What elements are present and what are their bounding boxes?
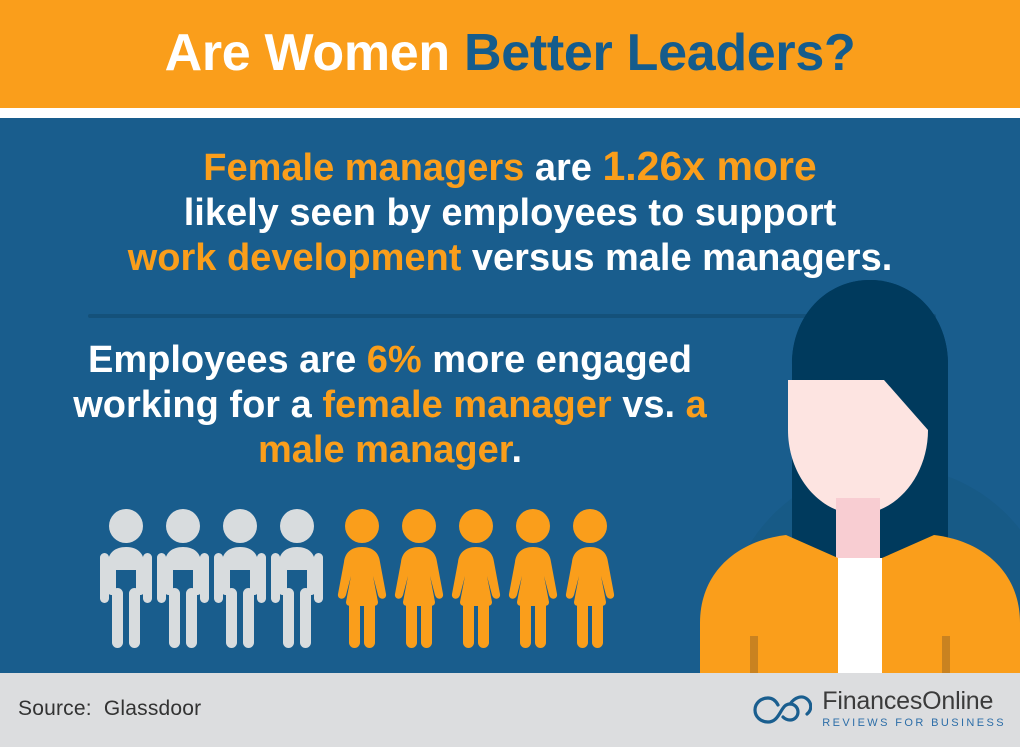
female-figure-icon bbox=[559, 508, 621, 648]
female-figure-icon bbox=[445, 508, 507, 648]
logo-tagline: REVIEWS FOR BUSINESS bbox=[822, 718, 1006, 729]
female-figure-icon bbox=[331, 508, 393, 648]
stmt2-seg-stat: 6% bbox=[367, 339, 422, 381]
footer-bar: Source: Glassdoor FinancesOnline REVIEWS… bbox=[0, 673, 1020, 747]
header-divider-strip bbox=[0, 108, 1020, 118]
infographic-root: Are Women Better Leaders? Female manager… bbox=[0, 0, 1020, 747]
stmt2-seg-period: . bbox=[511, 429, 522, 471]
header-banner: Are Women Better Leaders? bbox=[0, 0, 1020, 108]
page-title: Are Women Better Leaders? bbox=[165, 27, 856, 79]
cloud-logo-icon bbox=[752, 689, 812, 729]
stmt2-seg-female-manager: female manager bbox=[322, 384, 611, 426]
people-pictogram bbox=[95, 508, 695, 658]
male-figure-icon bbox=[95, 508, 157, 648]
stmt1-seg-are: are bbox=[524, 147, 602, 189]
blazer-left bbox=[700, 535, 838, 673]
blazer-right bbox=[882, 535, 1020, 673]
male-figure-icon bbox=[266, 508, 328, 648]
stmt1-seg-female-managers: Female managers bbox=[203, 147, 524, 189]
hair-fringe bbox=[792, 280, 948, 380]
stmt1-seg-work-development: work development bbox=[128, 237, 462, 279]
statement-two: Employees are 6% more engaged working fo… bbox=[60, 338, 720, 472]
stmt2-seg-employees-are: Employees are bbox=[88, 339, 367, 381]
financesonline-logo[interactable]: FinancesOnline REVIEWS FOR BUSINESS bbox=[752, 689, 1006, 729]
lapel-line-right bbox=[942, 636, 950, 673]
male-figure-icon bbox=[152, 508, 214, 648]
logo-text-block: FinancesOnline REVIEWS FOR BUSINESS bbox=[822, 689, 1006, 729]
shirt bbox=[832, 558, 884, 673]
logo-name: FinancesOnline bbox=[822, 689, 1006, 714]
page-title-part2: Better Leaders? bbox=[464, 24, 855, 82]
source-label: Source: Glassdoor bbox=[18, 697, 201, 721]
stmt1-seg-likely: likely seen by employees to support bbox=[184, 192, 837, 234]
female-manager-illustration bbox=[700, 236, 1020, 673]
lapel-line-left bbox=[750, 636, 758, 673]
main-body: Female managers are 1.26x morelikely see… bbox=[0, 118, 1020, 673]
female-figure-icon bbox=[502, 508, 564, 648]
stmt1-seg-stat: 1.26x more bbox=[602, 143, 816, 189]
page-title-part1: Are Women bbox=[165, 24, 464, 82]
female-figure-icon bbox=[388, 508, 450, 648]
stmt2-seg-vs: vs. bbox=[612, 384, 686, 426]
male-figure-icon bbox=[209, 508, 271, 648]
